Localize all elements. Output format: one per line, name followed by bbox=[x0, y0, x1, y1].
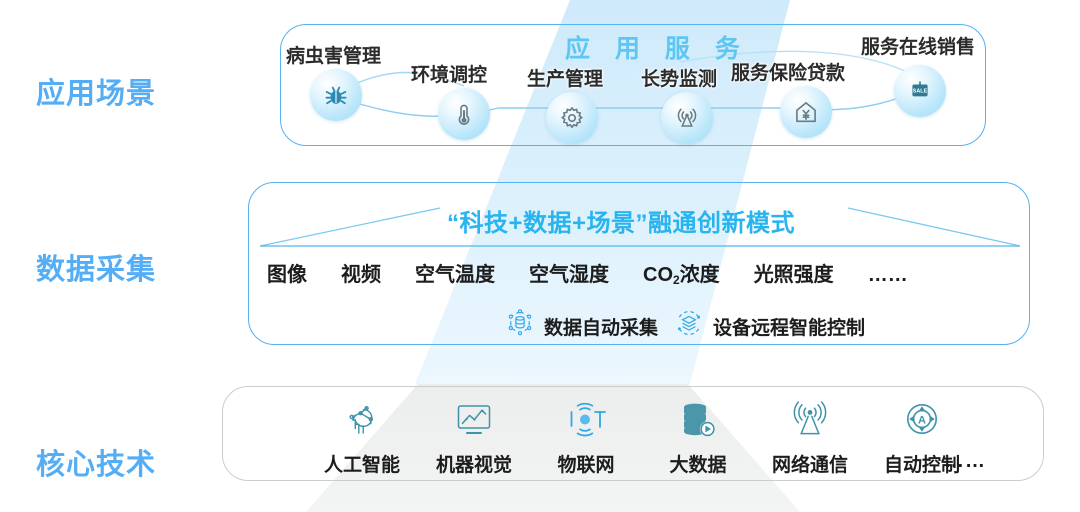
row-label-technology: 核心技术 bbox=[36, 441, 156, 483]
app-node-label: 病虫害管理 bbox=[286, 41, 381, 68]
tech-item-label: 大数据 bbox=[669, 450, 726, 477]
ai-head-icon bbox=[341, 398, 383, 444]
data-items-list: 图像 视频 空气温度 空气湿度 CO2浓度 光照强度 …… bbox=[267, 258, 1017, 287]
tech-item-big-data[interactable]: 大数据 bbox=[654, 398, 742, 477]
monitor-chart-icon bbox=[452, 398, 496, 444]
iot-icon bbox=[563, 398, 609, 444]
tech-item-label: 机器视觉 bbox=[436, 450, 512, 477]
diagram-canvas: 应用场景 数据采集 核心技术 应 用 服 务 病虫害管理 环境调控 bbox=[0, 0, 1080, 512]
data-item: 图像 bbox=[267, 258, 307, 287]
data-feature-label: 设备远程智能控制 bbox=[713, 313, 865, 340]
data-item: 光照强度 bbox=[754, 258, 834, 287]
tech-ellipsis: …… bbox=[944, 450, 986, 473]
house-yuan-icon bbox=[780, 86, 832, 138]
data-feature-auto-collection: 数据自动采集 bbox=[505, 308, 658, 344]
data-item: 空气温度 bbox=[415, 258, 495, 287]
tech-item-label: 物联网 bbox=[557, 450, 614, 477]
signal-tower-icon bbox=[661, 92, 713, 144]
sale-tag-icon: SALE bbox=[894, 65, 946, 117]
data-item-co2: CO2浓度 bbox=[643, 258, 720, 287]
app-node-label: 服务在线销售 bbox=[861, 32, 975, 59]
data-layer-title: “科技+数据+场景”融通创新模式 bbox=[447, 203, 795, 238]
technology-items-list: 人工智能 机器视觉 bbox=[318, 398, 966, 477]
application-layer-title: 应 用 服 务 bbox=[565, 29, 749, 65]
tech-item-label: 网络通信 bbox=[772, 450, 848, 477]
svg-text:A: A bbox=[918, 414, 926, 426]
database-stack-icon bbox=[676, 398, 720, 444]
data-feature-label: 数据自动采集 bbox=[544, 313, 658, 340]
bug-icon bbox=[310, 69, 362, 121]
auto-control-icon: A bbox=[901, 398, 943, 444]
app-node-label: 生产管理 bbox=[527, 64, 603, 91]
database-network-icon bbox=[505, 308, 535, 344]
thermometer-icon bbox=[438, 88, 490, 140]
gear-icon bbox=[546, 92, 598, 144]
data-item: 空气湿度 bbox=[529, 258, 609, 287]
layers-sync-icon bbox=[674, 308, 704, 344]
antenna-waves-icon bbox=[787, 398, 833, 444]
data-item: 视频 bbox=[341, 258, 381, 287]
tech-item-network-communication[interactable]: 网络通信 bbox=[766, 398, 854, 477]
app-node-label: 长势监测 bbox=[641, 64, 717, 91]
row-label-application: 应用场景 bbox=[36, 70, 156, 112]
app-node-label: 服务保险贷款 bbox=[731, 58, 845, 85]
row-label-data: 数据采集 bbox=[36, 246, 156, 288]
data-features-list: 数据自动采集 设备远程智能控制 bbox=[505, 308, 865, 344]
tech-item-iot[interactable]: 物联网 bbox=[542, 398, 630, 477]
data-item-ellipsis: …… bbox=[868, 264, 908, 287]
tech-item-machine-vision[interactable]: 机器视觉 bbox=[430, 398, 518, 477]
tech-item-ai[interactable]: 人工智能 bbox=[318, 398, 406, 477]
app-node-label: 环境调控 bbox=[411, 60, 487, 87]
svg-text:SALE: SALE bbox=[913, 89, 928, 95]
data-feature-remote-control: 设备远程智能控制 bbox=[674, 308, 865, 344]
tech-item-label: 人工智能 bbox=[324, 450, 400, 477]
